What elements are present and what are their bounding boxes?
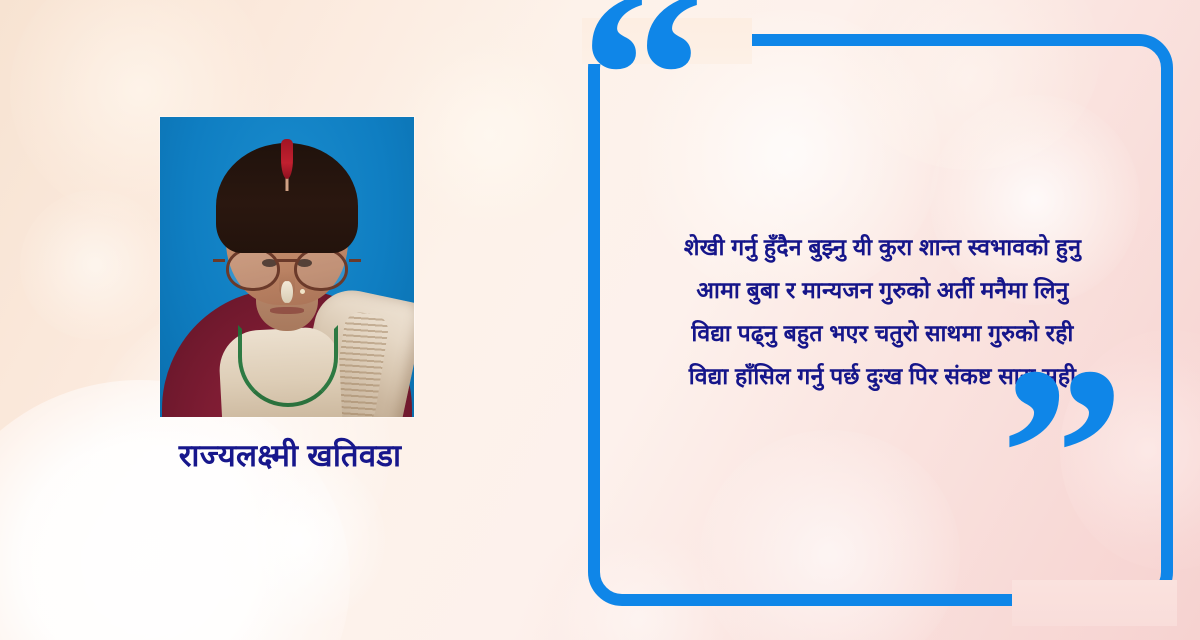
photo-eyeglasses [224, 247, 350, 287]
photo-lens-right [294, 247, 348, 291]
photo-glasses-temple-right [349, 259, 361, 262]
author-photo-frame [160, 117, 414, 417]
photo-lens-left [226, 247, 280, 291]
quote-card: राज्यलक्ष्मी खतिवडा “ शेखी गर्नु हुँदैन … [0, 0, 1200, 640]
author-name: राज्यलक्ष्मी खतिवडा [120, 434, 460, 476]
opening-quote-icon: “ [580, 0, 705, 202]
photo-mouth [270, 307, 304, 314]
quote-line: आमा बुबा र मान्यजन गुरुको अर्ती मनैमा लि… [610, 269, 1155, 312]
photo-sindoor [281, 139, 293, 179]
quote-line: शेखी गर्नु हुँदैन बुझ्नु यी कुरा शान्त स… [610, 226, 1155, 269]
photo-glasses-temple-left [213, 259, 225, 262]
photo-nose-stud [300, 289, 305, 294]
photo-glasses-bridge [276, 259, 298, 262]
author-photo [160, 117, 414, 417]
closing-quote-icon: ” [1000, 330, 1125, 580]
